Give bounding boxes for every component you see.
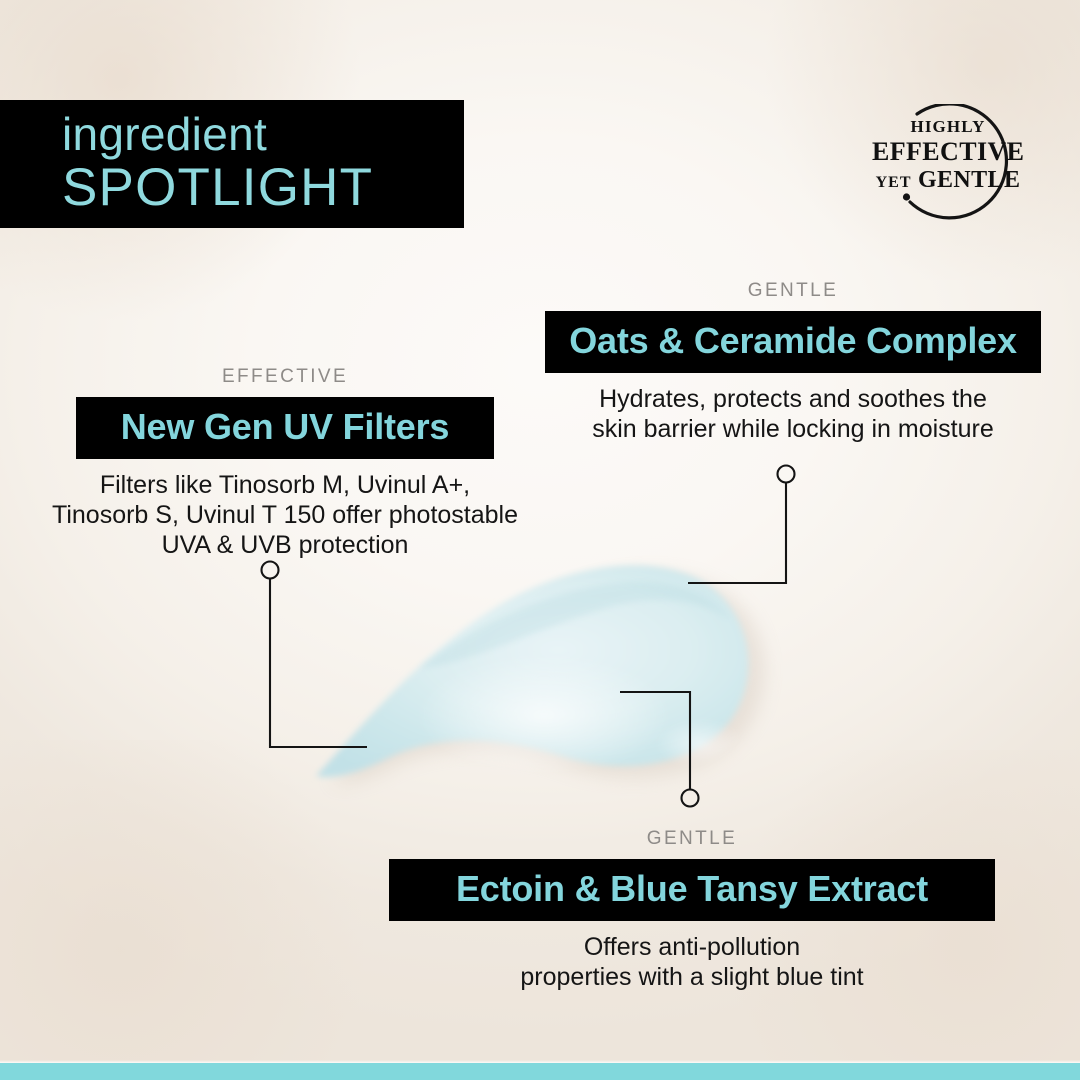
callout-uv-heading: New Gen UV Filters xyxy=(121,406,450,447)
callout-ectoin-heading-bar: Ectoin & Blue Tansy Extract xyxy=(389,859,995,921)
background-wash-bottom-left xyxy=(0,740,400,1080)
leader-ectoin-tansy xyxy=(620,692,699,807)
seal-line-2: EFFECTIVE xyxy=(872,137,1024,166)
callout-oats-body: Hydrates, protects and soothes the skin … xyxy=(535,384,1051,444)
page-title-line-2: SPOTLIGHT xyxy=(62,159,464,217)
page-title: ingredient SPOTLIGHT xyxy=(0,100,464,228)
seal-line-1: HIGHLY xyxy=(872,116,1024,137)
callout-uv-body: Filters like Tinosorb M, Uvinul A+, Tino… xyxy=(20,470,550,560)
callout-uv-heading-bar: New Gen UV Filters xyxy=(76,397,494,459)
callout-ectoin-heading: Ectoin & Blue Tansy Extract xyxy=(456,868,928,909)
bottom-accent-strip xyxy=(0,1063,1080,1080)
seal-text: HIGHLY EFFECTIVE YET GENTLE xyxy=(872,104,1024,197)
seal-line-3: YET GENTLE xyxy=(872,166,1024,197)
callout-ectoin-eyebrow: GENTLE xyxy=(380,828,1004,850)
leader-oats-ceramide xyxy=(688,466,795,584)
callout-oats-ceramide-complex: GENTLE Oats & Ceramide Complex Hydrates,… xyxy=(535,280,1051,444)
infographic-poster: ingredient SPOTLIGHT HIGHLY EFFECTIVE YE… xyxy=(0,0,1080,1080)
callout-uv-eyebrow: EFFECTIVE xyxy=(20,366,550,388)
callout-oats-heading: Oats & Ceramide Complex xyxy=(569,320,1017,361)
leader-uv-filters xyxy=(262,562,368,748)
highly-effective-yet-gentle-badge: HIGHLY EFFECTIVE YET GENTLE xyxy=(872,104,1032,228)
callout-oats-heading-bar: Oats & Ceramide Complex xyxy=(545,311,1041,373)
cream-swatch-graphic xyxy=(300,520,820,820)
callout-ectoin-blue-tansy: GENTLE Ectoin & Blue Tansy Extract Offer… xyxy=(380,828,1004,992)
page-title-line-1: ingredient xyxy=(62,109,464,159)
seal-line-3-small: YET xyxy=(876,174,912,191)
seal-line-3-big: GENTLE xyxy=(918,167,1020,193)
callout-new-gen-uv-filters: EFFECTIVE New Gen UV Filters Filters lik… xyxy=(20,366,550,560)
callout-oats-eyebrow: GENTLE xyxy=(535,280,1051,302)
callout-ectoin-body: Offers anti-pollution properties with a … xyxy=(380,932,1004,992)
